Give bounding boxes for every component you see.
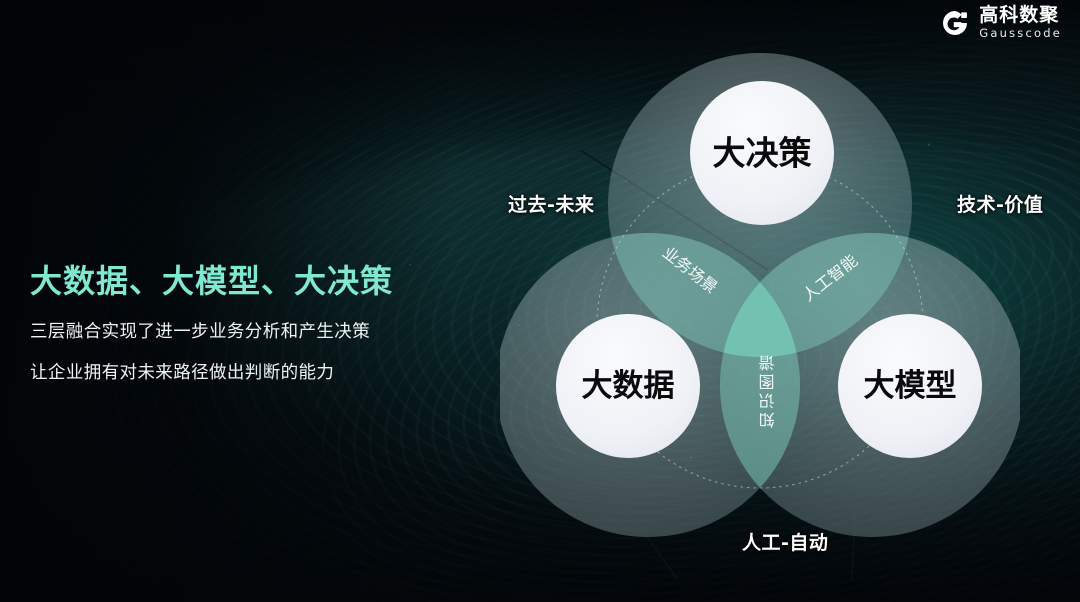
venn-label-left: 大数据 (582, 368, 675, 404)
venn-intersection-label-center: 知识图谱 (759, 352, 778, 428)
venn-diagram: 大决策 大数据 大模型 业务场景 人工智能 知识图谱 (500, 20, 1020, 580)
venn-label-top: 大决策 (713, 134, 812, 173)
subtitle-line-1: 三层融合实现了进一步业务分析和产生决策 (30, 318, 460, 343)
axis-label-manual-automatic: 人工-自动 (742, 528, 828, 555)
axis-label-past-future: 过去-未来 (508, 190, 594, 217)
page-title: 大数据、大模型、大决策 (30, 256, 460, 302)
axis-label-technology-value: 技术-价值 (957, 190, 1043, 217)
slide-root: 高科数聚 Gausscode 大数据、大模型、大决策 三层融合实现了进一步业务分… (0, 0, 1080, 602)
venn-label-right: 大模型 (864, 368, 957, 404)
left-text-block: 大数据、大模型、大决策 三层融合实现了进一步业务分析和产生决策 让企业拥有对未来… (30, 256, 460, 400)
subtitle-line-2: 让企业拥有对未来路径做出判断的能力 (30, 359, 460, 384)
